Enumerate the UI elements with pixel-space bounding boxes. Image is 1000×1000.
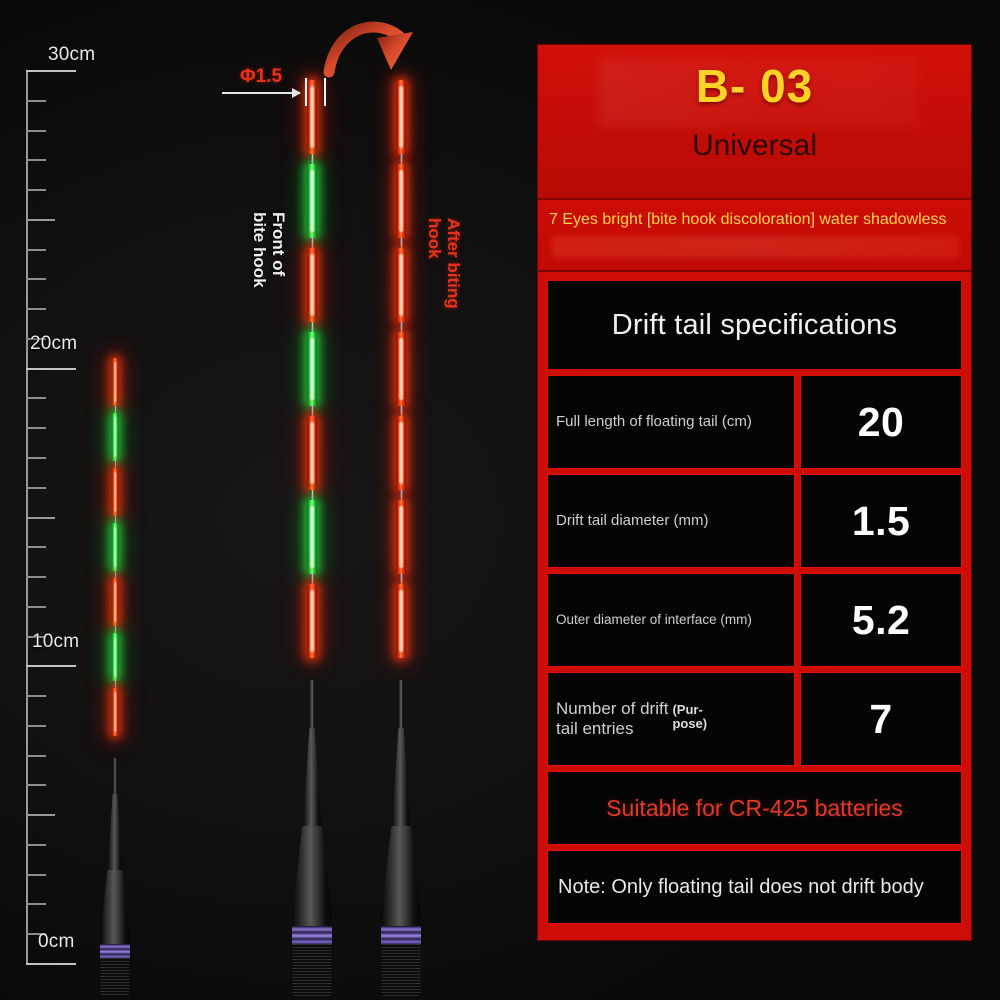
label-after-biting-hook-line2: hook: [425, 218, 444, 259]
ruler-tick-29cm: [26, 100, 46, 102]
spec-key-tail-diameter: Drift tail diameter (mm): [547, 474, 795, 568]
curved-arrow-icon: [325, 14, 435, 94]
float-middle-tail-gap-1: [311, 154, 314, 164]
table-row: Drift tail diameter (mm) 1.5: [547, 474, 962, 568]
ruler-tick-26cm: [26, 189, 46, 191]
ruler-tick-23cm: [26, 278, 46, 280]
float-right-tail-segment-4-core: [399, 338, 403, 400]
spec-value-full-length: 20: [800, 375, 962, 469]
float-middle-tail: [307, 80, 317, 658]
ruler-tick-16cm: [26, 487, 46, 489]
ruler-tick-3cm: [26, 874, 46, 876]
label-front-of-bite-hook-line1: Front of: [269, 212, 288, 276]
float-right-stem: [399, 680, 404, 732]
ruler-label-0cm: 0cm: [38, 931, 75, 953]
ruler-tick-22cm: [26, 308, 46, 310]
float-left-tail-segment-1-core: [114, 362, 117, 402]
ruler-label-20cm: 20cm: [30, 333, 77, 355]
float-middle-tail-segment-6-green: [307, 500, 317, 574]
float-right-after-biting-hook: [372, 80, 430, 980]
spec-table-header-cell: Drift tail specifications: [547, 280, 962, 370]
float-left-tail-segment-4-core: [114, 527, 117, 567]
float-right-tail-segment-6-core: [399, 506, 403, 568]
float-right-tail-segment-3-core: [399, 254, 403, 316]
ruler-tick-24cm: [26, 249, 46, 251]
ruler-tick-9cm: [26, 695, 46, 697]
float-left-tail-segment-3-core: [114, 472, 117, 512]
spec-panel: B- 03 Universal 7 Eyes bright [bite hook…: [537, 44, 972, 941]
footer-note-text: Note: Only floating tail does not drift …: [558, 876, 924, 899]
float-middle-tail-segment-5-red: [307, 416, 317, 490]
float-middle-tail-segment-7-red: [307, 584, 317, 658]
float-left-tail-segment-7-core: [114, 692, 117, 732]
float-middle-tail-segment-3-red: [307, 248, 317, 322]
float-right-tail-segment-2-red: [396, 164, 406, 238]
float-left-tail-segment-3-red: [112, 468, 119, 516]
float-left-tail-segment-7-red: [112, 688, 119, 736]
float-right-tail-gap-5: [400, 490, 403, 500]
float-left-rings: [100, 944, 130, 959]
diameter-ext-left: [305, 78, 307, 106]
float-middle-tail-gap-3: [311, 322, 314, 332]
spec-value-full-length-text: 20: [858, 399, 905, 446]
spec-key-drift-tail-entries: Number of drifttail entries (Pur-pose): [547, 672, 795, 766]
float-left-tail-gap-3: [114, 516, 116, 523]
ruler-tick-4cm: [26, 844, 46, 846]
spec-value-tail-diameter-text: 1.5: [852, 498, 911, 545]
spec-value-drift-tail-entries: 7: [800, 672, 962, 766]
float-middle-tail-segment-3-core: [310, 254, 314, 316]
ruler-label-30cm: 30cm: [48, 44, 95, 66]
diameter-ext-right: [324, 78, 326, 106]
float-left-tail-segment-6-green: [112, 633, 119, 681]
ruler-tick-13cm: [26, 576, 46, 578]
label-after-biting-hook: After biting hook: [425, 218, 463, 309]
spec-key-full-length: Full length of floating tail (cm): [547, 375, 795, 469]
float-left-tail-gap-5: [114, 626, 116, 633]
float-middle-tail-segment-4-core: [310, 338, 314, 400]
float-left-tail-segment-2-green: [112, 413, 119, 461]
ruler-tick-18cm: [26, 427, 46, 429]
spec-key-full-length-text: Full length of floating tail (cm): [556, 413, 752, 431]
ruler-tick-0cm: [26, 963, 76, 965]
ruler-tick-2cm: [26, 903, 46, 905]
float-right-tail-segment-4-red: [396, 332, 406, 406]
battery-note-text: Suitable for CR-425 batteries: [606, 795, 903, 822]
ruler-tick-30cm: [26, 70, 76, 72]
ruler-tick-14cm: [26, 546, 46, 548]
ruler-tick-15cm: [26, 517, 55, 519]
float-middle-tail-gap-5: [311, 490, 314, 500]
float-middle-front-of-bite-hook: [283, 80, 341, 980]
spec-table-header-text: Drift tail specifications: [612, 309, 897, 342]
float-right-tail-gap-2: [400, 238, 403, 248]
ruler-tick-8cm: [26, 725, 46, 727]
ruler-label-10cm: 10cm: [32, 631, 79, 653]
float-right-tail: [396, 80, 406, 658]
spec-value-interface-diameter: 5.2: [800, 573, 962, 667]
float-middle-rings: [292, 926, 332, 945]
float-right-tail-segment-3-red: [396, 248, 406, 322]
spec-table-header-row: Drift tail specifications: [547, 280, 962, 370]
float-left-tail: [112, 358, 119, 736]
float-middle-tail-segment-1-red: [307, 80, 317, 154]
label-front-of-bite-hook: Front of bite hook: [250, 212, 288, 288]
float-left-on-ruler: [87, 358, 143, 978]
float-middle-stem: [310, 680, 315, 732]
float-left-tail-gap-6: [114, 681, 116, 688]
battery-note-cell: Suitable for CR-425 batteries: [547, 771, 962, 845]
footer-note-cell: Note: Only floating tail does not drift …: [547, 850, 962, 924]
float-right-tail-segment-2-core: [399, 170, 403, 232]
float-left-tail-segment-6-core: [114, 637, 117, 677]
float-left-tail-segment-5-core: [114, 582, 117, 622]
product-infographic: 30cm 20cm 10cm 0cm: [0, 0, 1000, 1000]
ruler-tick-6cm: [26, 784, 46, 786]
spec-value-interface-diameter-text: 5.2: [852, 597, 911, 644]
spec-key-interface-diameter-text: Outer diameter of interface (mm): [556, 612, 752, 628]
float-middle-tail-segment-2-core: [310, 170, 314, 232]
float-right-tail-gap-3: [400, 322, 403, 332]
float-middle-knurl: [293, 944, 332, 996]
float-middle-cone-upper: [303, 728, 322, 830]
float-right-knurl: [382, 944, 421, 996]
ruler-tick-20cm: [26, 368, 76, 370]
diameter-arrow: [222, 92, 300, 94]
float-middle-cone-lower: [292, 826, 332, 930]
float-left-cone-lower: [100, 870, 130, 946]
ruler-tick-5cm: [26, 814, 55, 816]
float-right-tail-gap-6: [400, 574, 403, 584]
label-after-biting-hook-line1: After biting: [444, 218, 463, 309]
panel-hero: B- 03 Universal: [538, 45, 971, 200]
float-left-tail-segment-5-red: [112, 578, 119, 626]
float-right-rings: [381, 926, 421, 945]
spec-table: Drift tail specifications Full length of…: [538, 272, 971, 934]
tagline-ghost-text: [552, 236, 959, 258]
float-left-stem: [113, 758, 117, 796]
float-right-tail-segment-1-core: [399, 86, 403, 148]
float-right-tail-gap-4: [400, 406, 403, 416]
float-left-tail-gap-4: [114, 571, 116, 578]
table-row: Number of drifttail entries (Pur-pose) 7: [547, 672, 962, 766]
float-middle-tail-gap-2: [311, 238, 314, 248]
float-right-tail-gap-1: [400, 154, 403, 164]
table-row: Full length of floating tail (cm) 20: [547, 375, 962, 469]
float-middle-tail-segment-5-core: [310, 422, 314, 484]
float-middle-tail-gap-4: [311, 406, 314, 416]
float-middle-tail-gap-6: [311, 574, 314, 584]
float-right-cone-upper: [392, 728, 411, 830]
spec-key-interface-diameter: Outer diameter of interface (mm): [547, 573, 795, 667]
table-row: Outer diameter of interface (mm) 5.2: [547, 573, 962, 667]
float-right-tail-segment-5-core: [399, 422, 403, 484]
spec-key-drift-tail-entries-note: (Pur-pose): [672, 703, 707, 732]
spec-value-tail-diameter: 1.5: [800, 474, 962, 568]
ruler-tick-17cm: [26, 457, 46, 459]
float-right-tail-segment-6-red: [396, 500, 406, 574]
spec-key-tail-diameter-text: Drift tail diameter (mm): [556, 512, 709, 530]
label-front-of-bite-hook-line2: bite hook: [250, 212, 269, 288]
float-left-tail-gap-1: [114, 406, 116, 413]
float-left-tail-gap-2: [114, 461, 116, 468]
float-right-tail-segment-5-red: [396, 416, 406, 490]
float-right-cone-lower: [381, 826, 421, 930]
ruler-tick-28cm: [26, 130, 46, 132]
float-left-tail-segment-4-green: [112, 523, 119, 571]
float-left-tail-segment-1-red: [112, 358, 119, 406]
ruler-tick-19cm: [26, 397, 46, 399]
float-left-cone-upper: [108, 794, 123, 872]
float-middle-tail-segment-4-green: [307, 332, 317, 406]
float-right-tail-segment-7-core: [399, 590, 403, 652]
float-middle-tail-segment-1-core: [310, 86, 314, 148]
panel-tagline: 7 Eyes bright [bite hook discoloration] …: [538, 200, 971, 272]
float-middle-tail-segment-2-green: [307, 164, 317, 238]
float-middle-tail-segment-7-core: [310, 590, 314, 652]
float-left-knurl: [101, 958, 130, 996]
panel-tagline-text: 7 Eyes bright [bite hook discoloration] …: [549, 211, 947, 228]
diameter-dimension-label: Φ1.5: [240, 66, 282, 88]
float-left-tail-segment-2-core: [114, 417, 117, 457]
float-right-tail-segment-7-red: [396, 584, 406, 658]
ruler-tick-25cm: [26, 219, 55, 221]
spec-key-drift-tail-entries-main: Number of drifttail entries: [556, 699, 668, 739]
float-middle-tail-segment-6-core: [310, 506, 314, 568]
panel-model-title: B- 03: [538, 59, 971, 113]
ruler-tick-10cm: [26, 665, 76, 667]
ruler-tick-7cm: [26, 755, 46, 757]
ruler-tick-12cm: [26, 606, 46, 608]
spec-value-drift-tail-entries-text: 7: [869, 696, 892, 743]
panel-subtitle: Universal: [538, 129, 971, 163]
ruler-tick-27cm: [26, 159, 46, 161]
